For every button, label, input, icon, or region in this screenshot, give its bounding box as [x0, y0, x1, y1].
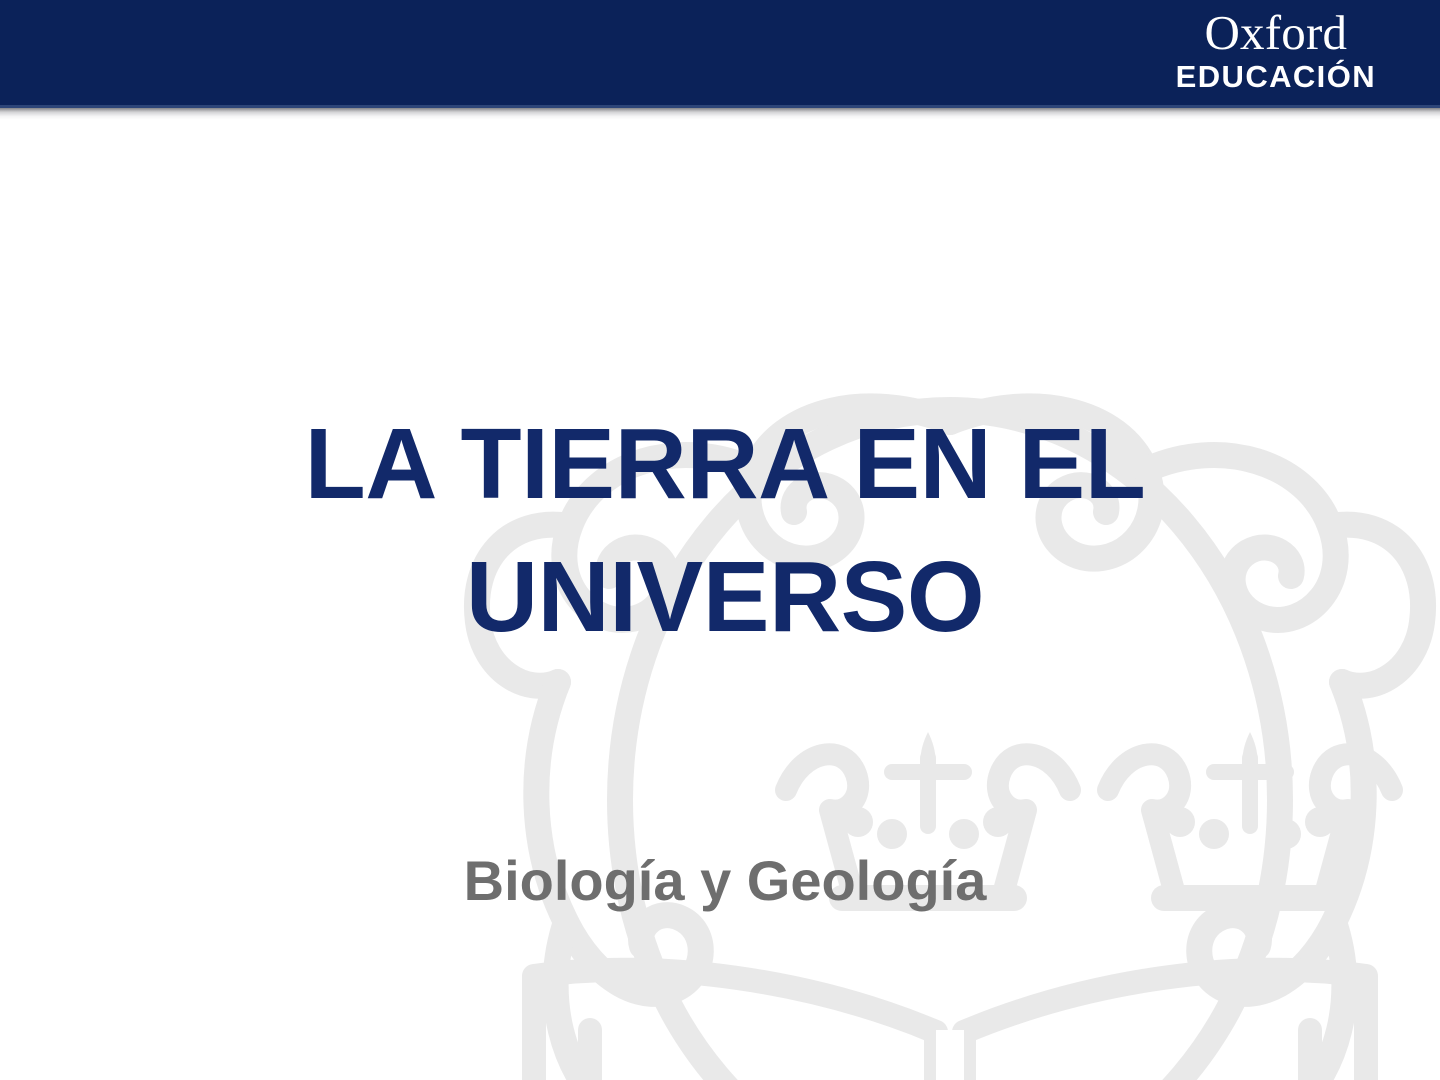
slide-title: LA TIERRA EN EL UNIVERSO: [160, 398, 1290, 664]
oxford-educacion-label: EDUCACIÓN: [1176, 60, 1376, 94]
oxford-wordmark: Oxford: [1176, 6, 1376, 60]
header-bar-shadow: [0, 108, 1440, 120]
slide-content: LA TIERRA EN EL UNIVERSO Biología y Geol…: [0, 0, 1440, 1080]
slide-subtitle: Biología y Geología: [160, 845, 1290, 917]
slide-canvas: DOMI MINA Oxford EDUCACIÓN LA TIERRA EN …: [0, 0, 1440, 1080]
oxford-educacion-logo: Oxford EDUCACIÓN: [1176, 6, 1376, 94]
